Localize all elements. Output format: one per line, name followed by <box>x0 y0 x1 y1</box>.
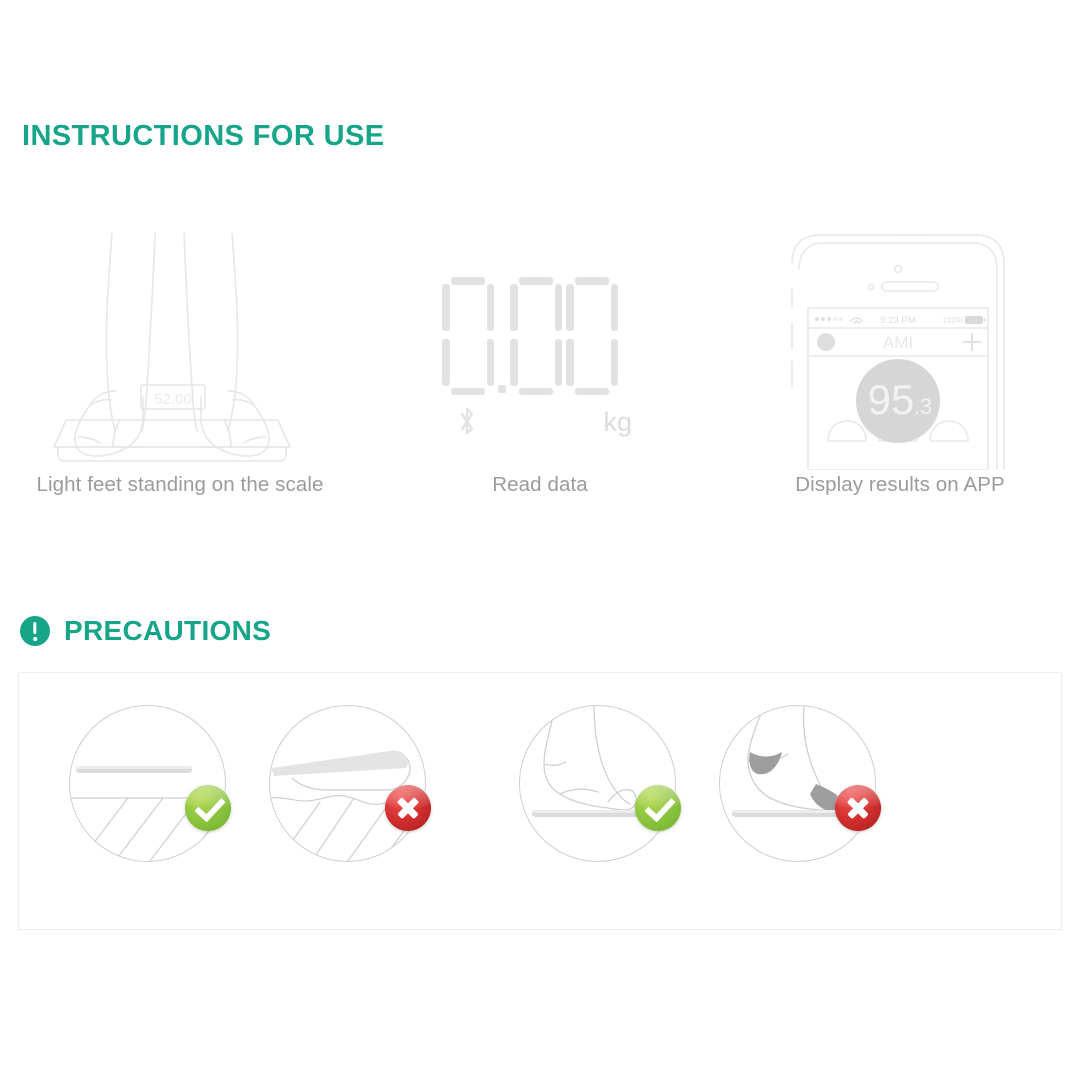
display-value: 0.00 <box>440 395 441 396</box>
cross-circle-icon <box>835 785 881 831</box>
precaution-bare-foot <box>519 705 676 862</box>
instruction-steps: 52.00 Light feet standing on the scale <box>0 215 1080 535</box>
page-title-precautions: PRECAUTIONS <box>64 615 271 647</box>
precaution-sock-foot <box>719 705 876 862</box>
cross-circle-icon <box>385 785 431 831</box>
app-title: AMI <box>883 333 913 352</box>
step-display-on-app: 9:23 PM 100% AMI 95 .3 <box>720 215 1080 535</box>
seven-segment-display: kg 0.00 <box>360 215 720 470</box>
digit-2 <box>510 277 562 395</box>
step-caption: Read data <box>360 473 720 497</box>
check-circle-icon <box>635 785 681 831</box>
step-read-data: kg 0.00 Read data <box>360 215 720 535</box>
precaution-hard-floor <box>69 705 226 862</box>
status-time: 9:23 PM <box>880 315 915 326</box>
page-title-instructions: INSTRUCTIONS FOR USE <box>22 120 384 153</box>
status-signal-dots <box>815 317 843 321</box>
step-stand-on-scale: 52.00 Light feet standing on the scale <box>0 215 360 535</box>
feet-on-scale-illustration: 52.00 <box>0 215 360 470</box>
plus-icon <box>964 334 980 350</box>
battery-percent: 100% <box>942 315 964 325</box>
wifi-icon <box>851 318 862 323</box>
digit-3 <box>566 277 618 395</box>
check-circle-icon <box>185 785 231 831</box>
exclamation-circle-icon <box>20 616 50 646</box>
step-caption: Display results on APP <box>720 473 1080 497</box>
precautions-heading-row: PRECAUTIONS <box>20 615 271 647</box>
scale-display-value: 52.00 <box>154 391 192 408</box>
avatar <box>817 333 835 351</box>
weight-decimal: .3 <box>914 394 932 419</box>
unit-label: kg <box>603 409 632 436</box>
instruction-sheet: INSTRUCTIONS FOR USE <box>0 0 1080 1080</box>
display-digits <box>440 277 640 395</box>
precaution-uneven-floor <box>269 705 426 862</box>
smartphone-app-illustration: 9:23 PM 100% AMI 95 .3 <box>720 215 1080 470</box>
battery-full-icon <box>965 316 986 324</box>
precautions-panel <box>18 672 1062 930</box>
bluetooth-icon <box>456 405 478 445</box>
step-caption: Light feet standing on the scale <box>0 473 360 497</box>
weight-whole: 95 <box>868 376 915 423</box>
decimal-point <box>498 385 506 393</box>
digit-1 <box>442 277 494 395</box>
